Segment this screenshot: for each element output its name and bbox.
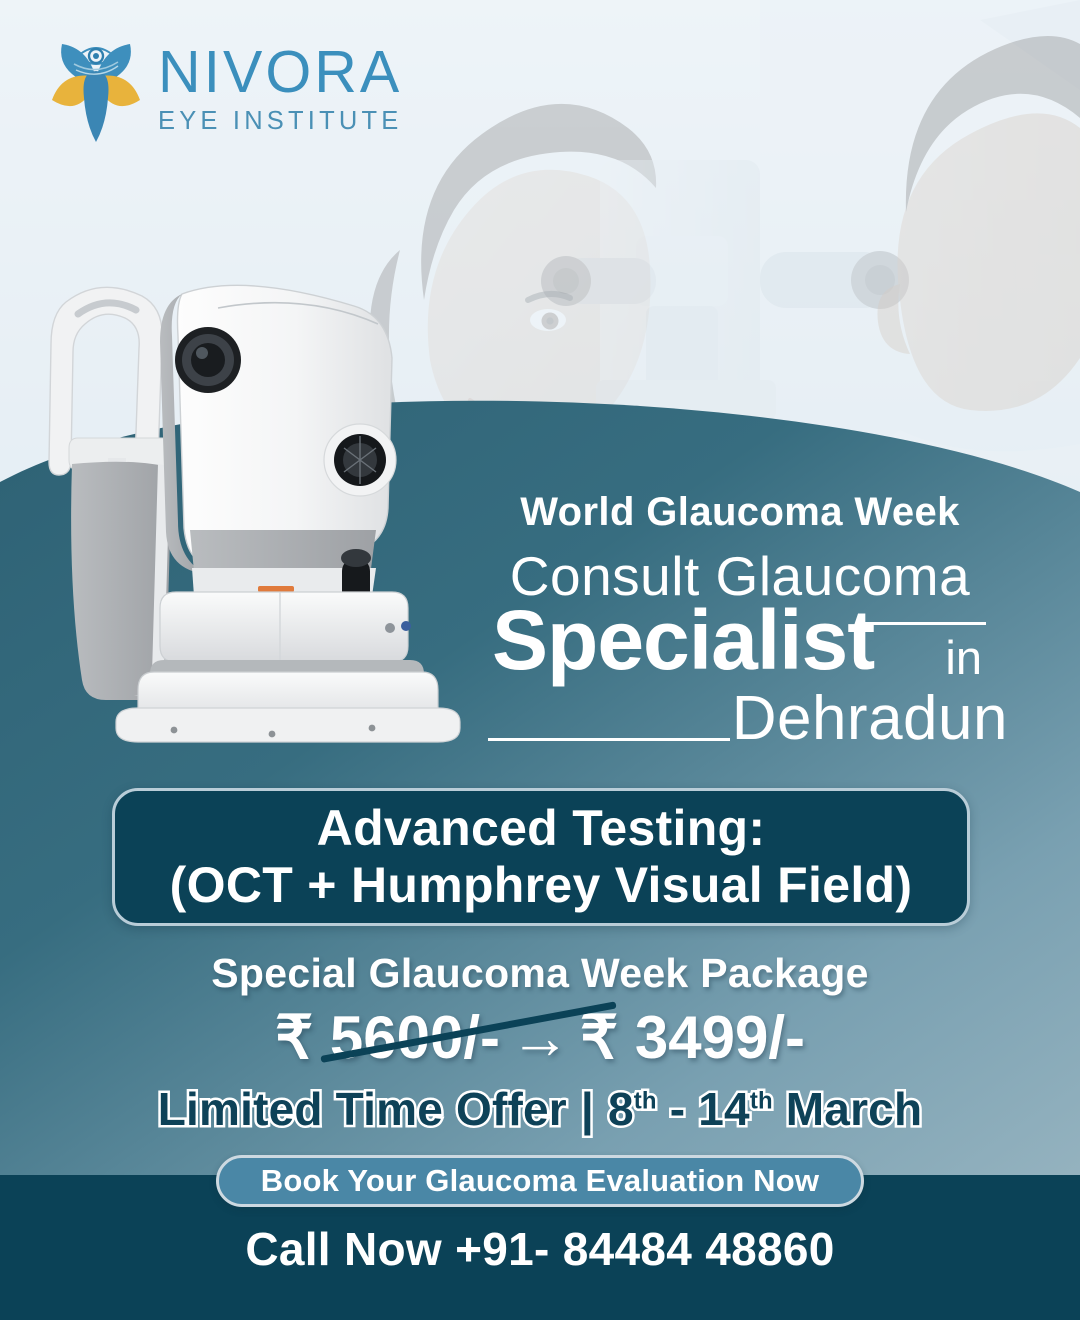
brand-logo: NIVORA EYE INSTITUTE [48, 34, 402, 144]
offer-start-day: 8 [608, 1083, 634, 1135]
headline-connector: in [945, 634, 982, 681]
headline-emphasis: Specialist [492, 598, 874, 682]
offer-month: March [786, 1083, 922, 1135]
phone-number: 84484 48860 [563, 1223, 835, 1275]
old-price: ₹ 5600/- [275, 1004, 500, 1071]
banner-line-2: (OCT + Humphrey Visual Field) [170, 857, 913, 913]
brand-name: NIVORA [158, 43, 402, 102]
call-label: Call Now [245, 1223, 442, 1275]
brand-subtitle: EYE INSTITUTE [158, 109, 402, 135]
headline-kicker: World Glaucoma Week [470, 490, 1010, 534]
limited-time-offer: Limited Time Offer|8th - 14th March [0, 1082, 1080, 1136]
currency-symbol-old: ₹ [275, 1004, 313, 1071]
offer-start-suffix: th [634, 1088, 657, 1115]
offer-end-day: 14 [698, 1083, 750, 1135]
package-title: Special Glaucoma Week Package [0, 950, 1080, 997]
offer-end-suffix: th [750, 1088, 773, 1115]
headline-city-row: Dehradun [470, 694, 1010, 764]
headline-specialist-row: Specialist in [470, 602, 1010, 694]
price-row: ₹ 5600/-→₹ 3499/- [275, 1003, 805, 1073]
decorative-rule-top [861, 622, 986, 625]
headline-city: Dehradun [732, 688, 1008, 750]
currency-symbol-new: ₹ [580, 1004, 618, 1071]
offer-dash: - [670, 1083, 686, 1135]
eye-human-figure-leaves-icon [48, 34, 144, 144]
poster-root: NIVORA EYE INSTITUTE [0, 0, 1080, 1320]
offer-separator: | [581, 1083, 594, 1135]
headline-block: World Glaucoma Week Consult Glaucoma Spe… [470, 490, 1010, 764]
decorative-rule-bottom [488, 738, 730, 741]
call-now-text[interactable]: Call Now +91- 84484 48860 [0, 1222, 1080, 1276]
price-text: ₹ 5600/-→₹ 3499/- [275, 1004, 805, 1071]
offer-label: Limited Time Offer [158, 1083, 567, 1135]
country-code: +91- [455, 1223, 550, 1275]
package-block: Special Glaucoma Week Package ₹ 5600/-→₹… [0, 950, 1080, 1073]
oct-device-image [42, 268, 482, 748]
new-price-value: 3499/- [635, 1004, 805, 1071]
advanced-testing-banner: Advanced Testing: (OCT + Humphrey Visual… [112, 788, 970, 926]
book-evaluation-button[interactable]: Book Your Glaucoma Evaluation Now [216, 1155, 864, 1207]
banner-line-1: Advanced Testing: [317, 801, 766, 855]
